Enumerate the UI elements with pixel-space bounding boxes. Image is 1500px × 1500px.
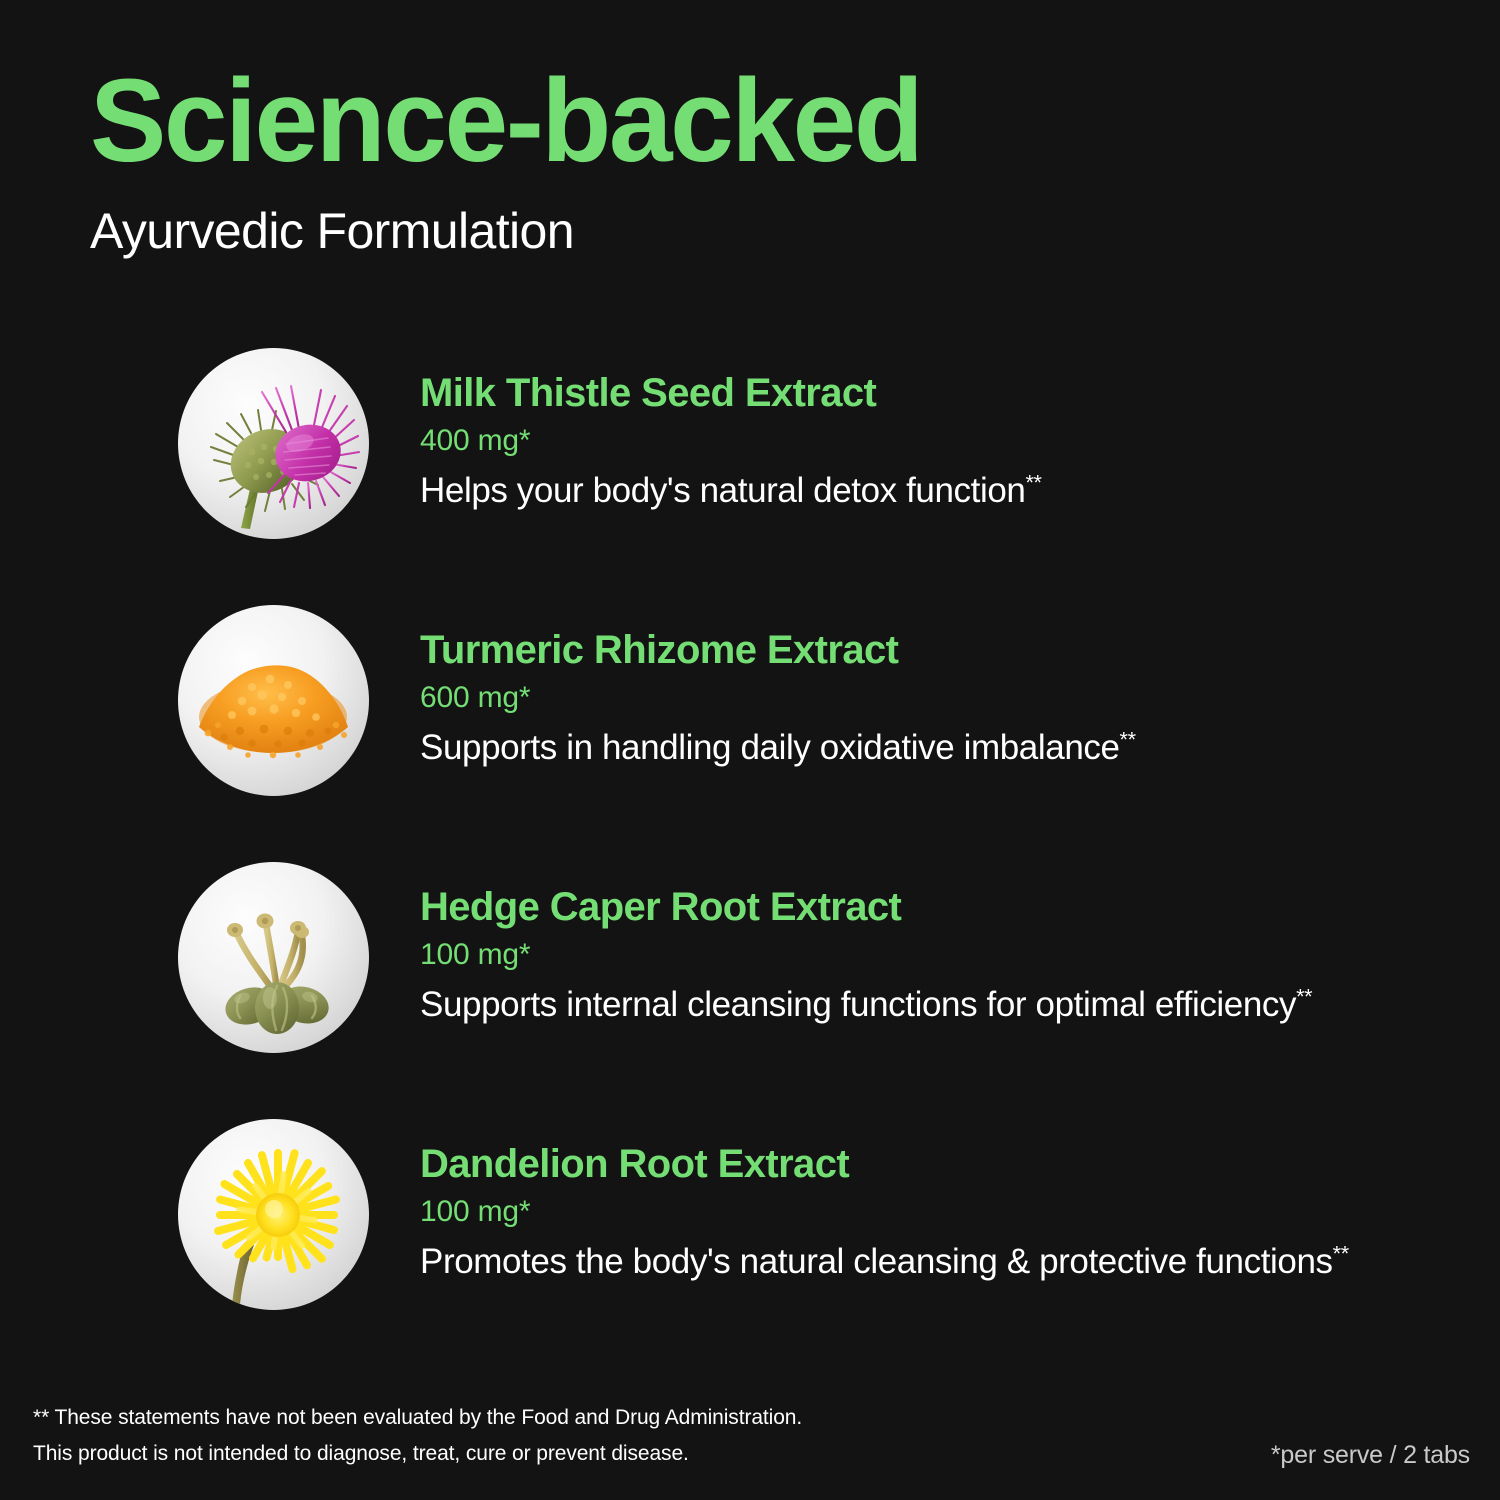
- ingredient-description: Supports in handling daily oxidative imb…: [420, 716, 1360, 771]
- ingredient-name: Hedge Caper Root Extract: [420, 886, 1390, 929]
- dandelion-flower-icon: [178, 1119, 369, 1310]
- footnote-marker: **: [1333, 1241, 1349, 1266]
- turmeric-powder-icon: [178, 605, 369, 796]
- ingredient-dose: 100 mg*: [420, 929, 1390, 973]
- per-serve-note: *per serve / 2 tabs: [1271, 1441, 1470, 1472]
- fda-disclaimer: ** These statements have not been evalua…: [33, 1400, 802, 1472]
- infographic-page: Science-backed Ayurvedic Formulation: [0, 0, 1500, 1500]
- list-item: Hedge Caper Root Extract 100 mg* Support…: [0, 862, 1500, 1119]
- ingredient-thumbnail: [178, 1119, 369, 1310]
- footer: ** These statements have not been evalua…: [33, 1400, 1470, 1472]
- ingredient-list: Milk Thistle Seed Extract 400 mg* Helps …: [0, 348, 1500, 1376]
- page-subtitle: Ayurvedic Formulation: [90, 180, 1410, 259]
- ingredient-thumbnail: [178, 605, 369, 796]
- footnote-marker: **: [1120, 727, 1136, 752]
- ingredient-text: Hedge Caper Root Extract 100 mg* Support…: [420, 886, 1390, 1028]
- ingredient-thumbnail: [178, 348, 369, 539]
- footnote-marker: **: [1026, 470, 1042, 495]
- list-item: Dandelion Root Extract 100 mg* Promotes …: [0, 1119, 1500, 1376]
- ingredient-text: Milk Thistle Seed Extract 400 mg* Helps …: [420, 372, 1390, 514]
- ingredient-text: Turmeric Rhizome Extract 600 mg* Support…: [420, 629, 1390, 771]
- milk-thistle-flower-icon: [178, 348, 369, 539]
- list-item: Turmeric Rhizome Extract 600 mg* Support…: [0, 605, 1500, 862]
- ingredient-description-text: Supports in handling daily oxidative imb…: [420, 728, 1120, 767]
- ingredient-text: Dandelion Root Extract 100 mg* Promotes …: [420, 1143, 1390, 1285]
- ingredient-description: Supports internal cleansing functions fo…: [420, 973, 1360, 1028]
- caper-berries-icon: [178, 862, 369, 1053]
- ingredient-name: Turmeric Rhizome Extract: [420, 629, 1390, 672]
- ingredient-description-text: Supports internal cleansing functions fo…: [420, 985, 1296, 1024]
- ingredient-description: Promotes the body's natural cleansing & …: [420, 1230, 1360, 1285]
- ingredient-name: Dandelion Root Extract: [420, 1143, 1390, 1186]
- ingredient-thumbnail: [178, 862, 369, 1053]
- ingredient-description-text: Helps your body's natural detox function: [420, 471, 1026, 510]
- page-title: Science-backed: [90, 62, 1370, 180]
- list-item: Milk Thistle Seed Extract 400 mg* Helps …: [0, 348, 1500, 605]
- footnote-marker: **: [1296, 984, 1312, 1009]
- ingredient-dose: 400 mg*: [420, 415, 1390, 459]
- ingredient-description-text: Promotes the body's natural cleansing & …: [420, 1242, 1333, 1281]
- header: Science-backed Ayurvedic Formulation: [90, 62, 1410, 259]
- ingredient-dose: 100 mg*: [420, 1186, 1390, 1230]
- disclaimer-line-1: ** These statements have not been evalua…: [33, 1400, 802, 1436]
- ingredient-dose: 600 mg*: [420, 672, 1390, 716]
- ingredient-name: Milk Thistle Seed Extract: [420, 372, 1390, 415]
- ingredient-description: Helps your body's natural detox function…: [420, 459, 1360, 514]
- disclaimer-line-2: This product is not intended to diagnose…: [33, 1436, 802, 1472]
